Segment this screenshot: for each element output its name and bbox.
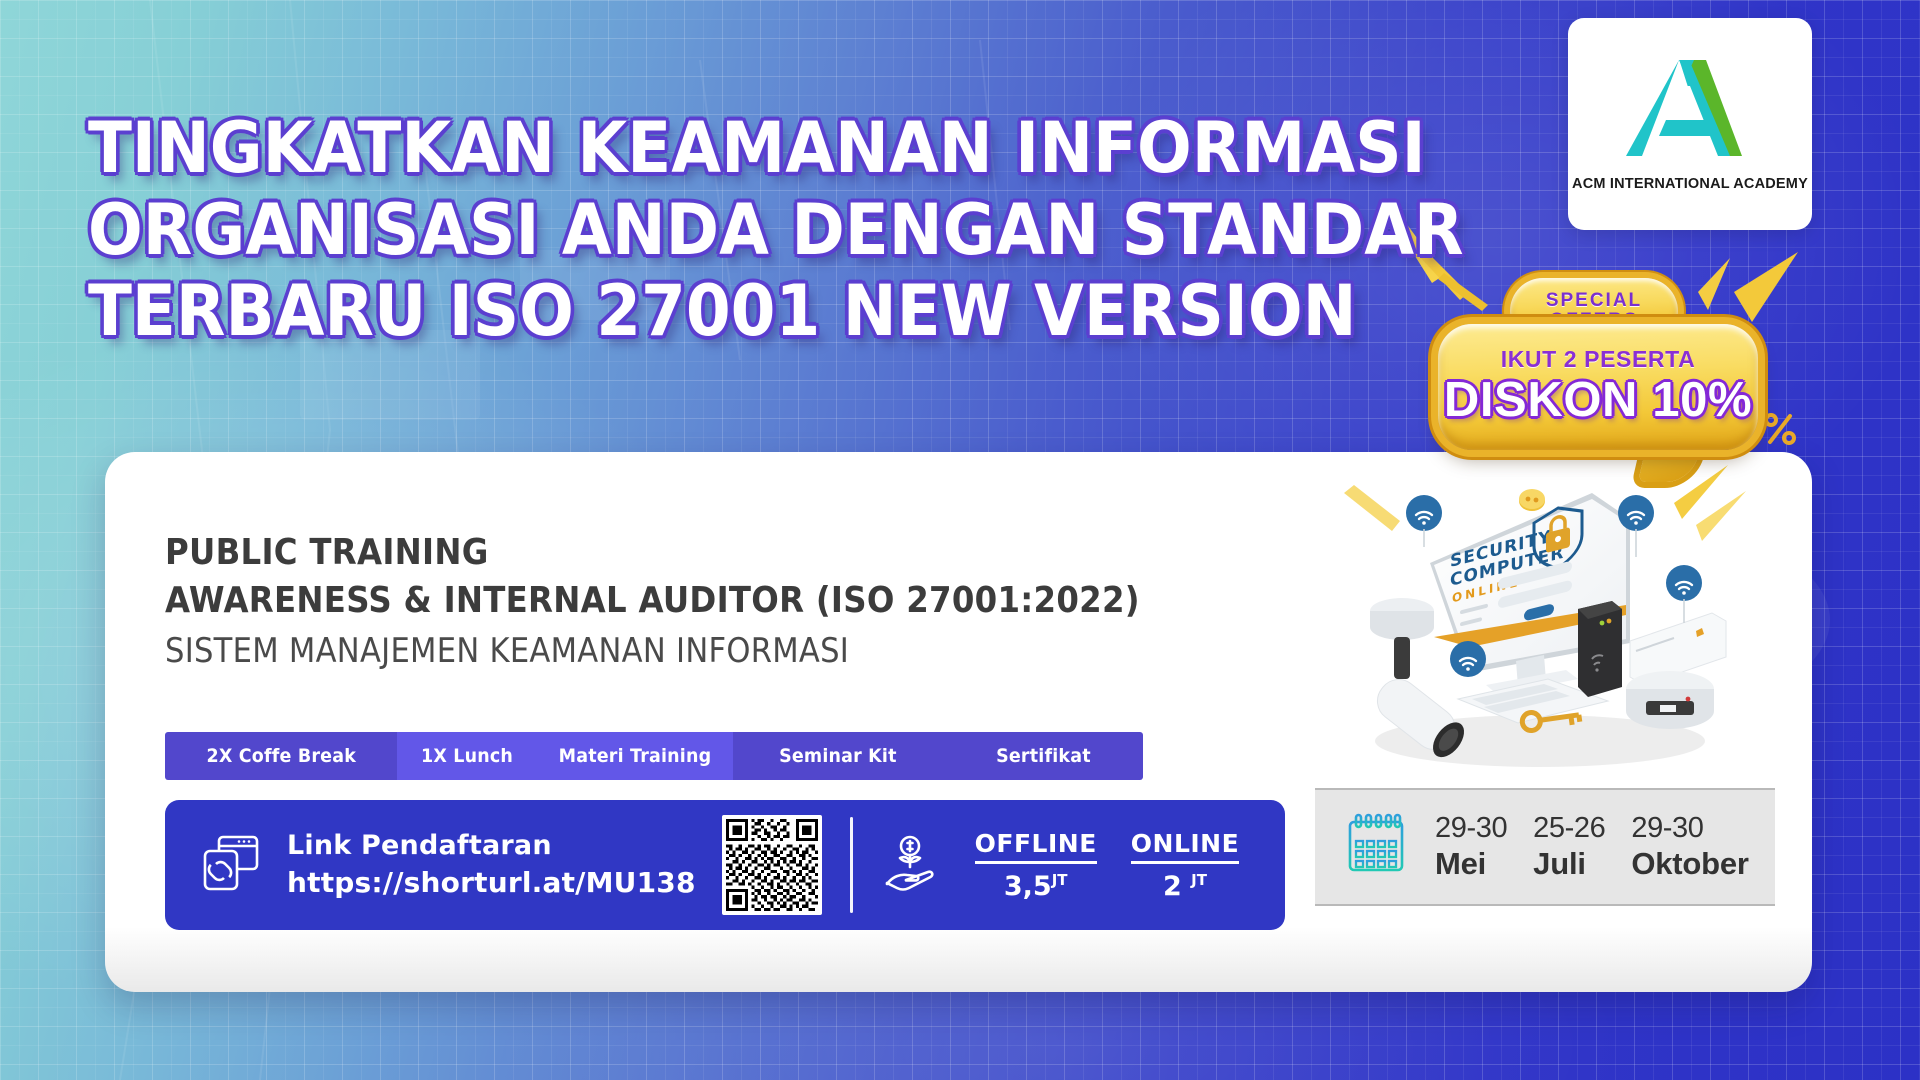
link-window-icon xyxy=(165,832,261,899)
registration-text: Link Pendaftaran https://shorturl.at/MU1… xyxy=(287,829,696,901)
price-offline-label: OFFLINE xyxy=(975,829,1097,864)
feature-seminar-kit: Seminar Kit xyxy=(733,732,943,780)
schedule-item-1: 29-30 Mei xyxy=(1435,812,1507,881)
headline-line-2: ORGANISASI ANDA DENGAN STANDAR xyxy=(88,190,1431,272)
acm-triangle-a-logo-icon xyxy=(1626,56,1754,169)
schedule-month-3: Oktober xyxy=(1631,847,1748,882)
headline-line-3: TERBARU ISO 27001 NEW VERSION xyxy=(88,271,1431,353)
page-headline: TINGKATKAN KEAMANAN INFORMASI ORGANISASI… xyxy=(88,108,1431,353)
headline-line-1: TINGKATKAN KEAMANAN INFORMASI xyxy=(88,108,1431,190)
schedule-range-3: 29-30 xyxy=(1631,812,1748,844)
schedule-month-1: Mei xyxy=(1435,847,1507,882)
feature-sertifikat: Sertifikat xyxy=(943,732,1143,780)
schedule-item-2: 25-26 Juli xyxy=(1533,812,1605,881)
registration-price-bar: Link Pendaftaran https://shorturl.at/MU1… xyxy=(165,800,1285,930)
schedule-month-2: Juli xyxy=(1533,847,1605,882)
brand-logo-card: ACM INTERNATIONAL ACADEMY xyxy=(1568,18,1812,230)
discount-headline: DISKON 10% xyxy=(1444,375,1752,426)
qr-code[interactable] xyxy=(722,815,822,915)
schedule-range-1: 29-30 xyxy=(1435,812,1507,844)
discount-bubble: IKUT 2 PESERTA DISKON 10% xyxy=(1438,324,1758,450)
feature-materi-training: Materi Training xyxy=(537,732,733,780)
discount-subtitle: IKUT 2 PESERTA xyxy=(1501,348,1696,371)
logo-wordmark: ACM INTERNATIONAL ACADEMY xyxy=(1572,176,1808,192)
hand-money-plant-icon xyxy=(853,834,941,897)
features-bar: 2X Coffe Break 1X Lunch Materi Training … xyxy=(165,732,1143,780)
isometric-security-computer-illustration: SECURITY COMPUTER ONLINE xyxy=(1330,455,1760,775)
calendar-icon xyxy=(1315,812,1409,883)
schedule-panel: 29-30 Mei 25-26 Juli 29-30 Oktober xyxy=(1315,788,1775,906)
registration-url[interactable]: https://shorturl.at/MU138 xyxy=(287,866,696,901)
price-offline-value: 3,5JT xyxy=(975,871,1097,902)
training-titles: PUBLIC TRAINING AWARENESS & INTERNAL AUD… xyxy=(165,532,1248,671)
special-offers-line-1: SPECIAL xyxy=(1546,291,1642,311)
price-online-label: ONLINE xyxy=(1131,829,1239,864)
price-offline: OFFLINE 3,5JT xyxy=(975,829,1097,902)
registration-label: Link Pendaftaran xyxy=(287,829,696,862)
feature-lunch: 1X Lunch xyxy=(397,732,537,780)
discount-badge: SPECIAL OFFERS IKUT 2 PESERTA DISKON 10% xyxy=(1438,278,1758,478)
vertical-divider xyxy=(850,817,853,913)
title-public-training: PUBLIC TRAINING xyxy=(165,532,1140,574)
title-subtitle: SISTEM MANAJEMEN KEAMANAN INFORMASI xyxy=(165,631,1140,671)
price-online-value: 2 JT xyxy=(1131,871,1239,902)
price-online: ONLINE 2 JT xyxy=(1131,829,1239,902)
schedule-item-3: 29-30 Oktober xyxy=(1631,812,1748,881)
schedule-range-2: 25-26 xyxy=(1533,812,1605,844)
title-course-name: AWARENESS & INTERNAL AUDITOR (ISO 27001:… xyxy=(165,580,1140,622)
feature-coffee-break: 2X Coffe Break xyxy=(165,732,397,780)
